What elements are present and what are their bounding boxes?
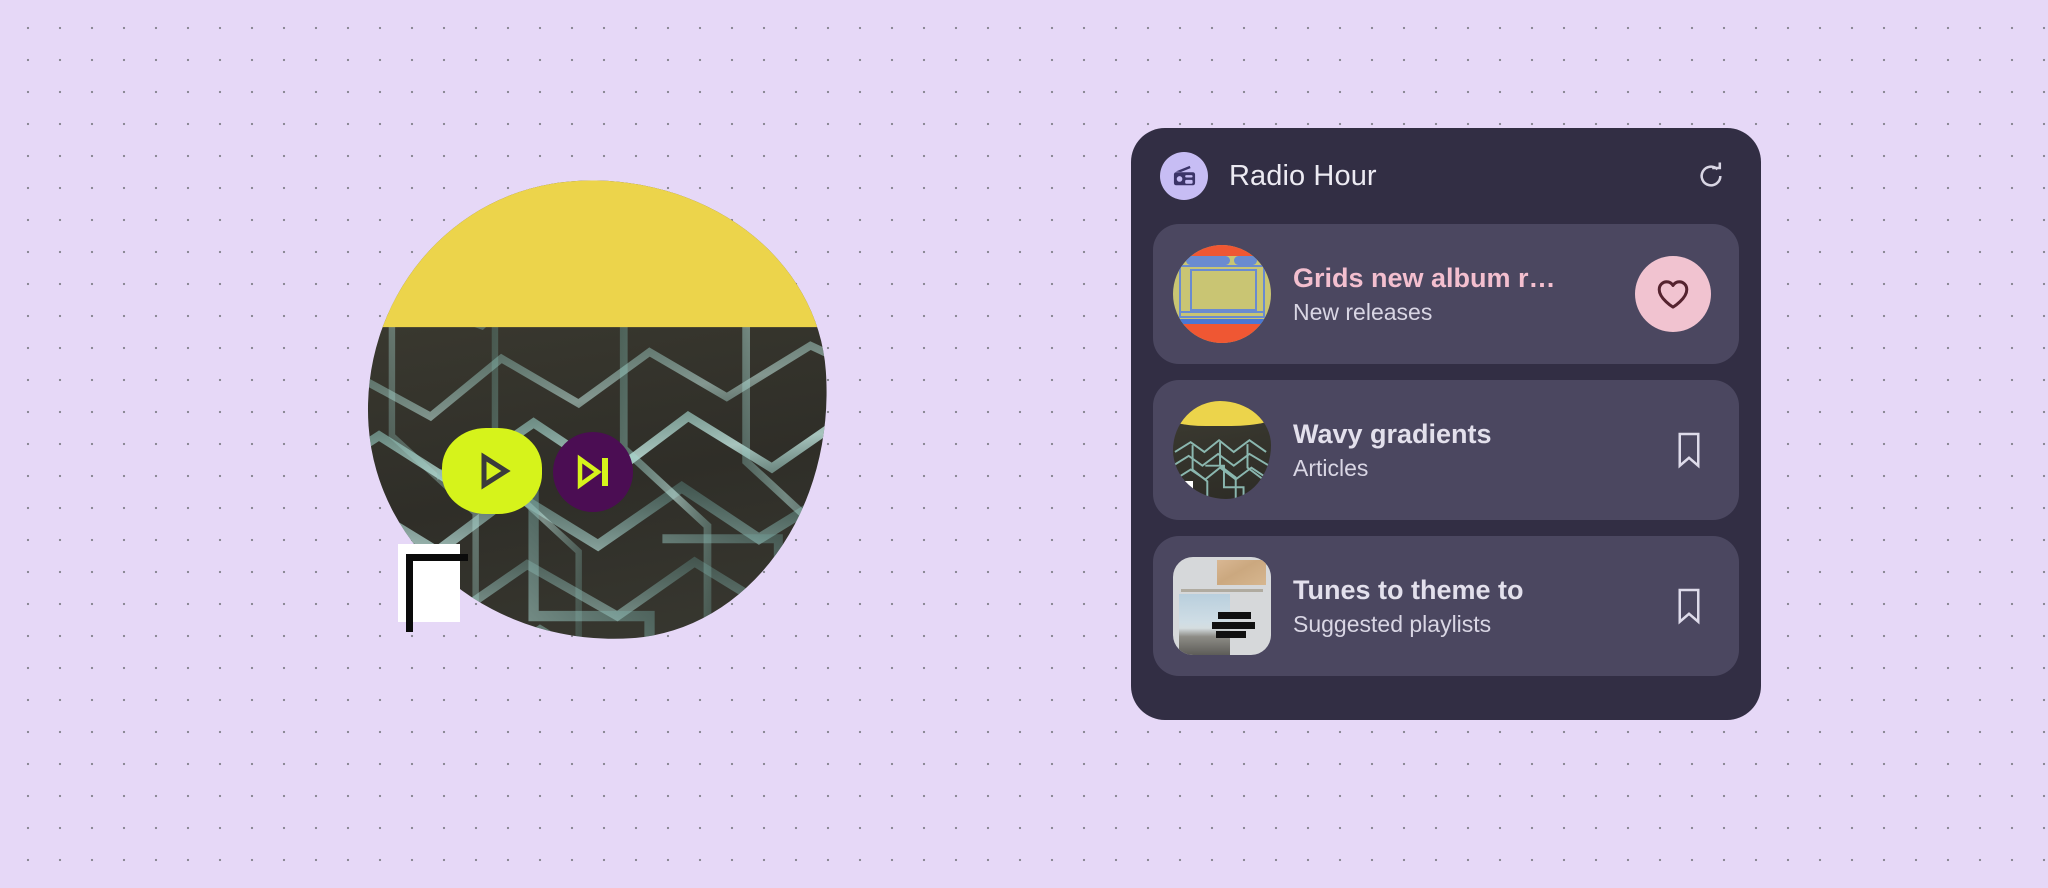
list-item-subtitle: Suggested playlists: [1293, 612, 1667, 636]
list-item[interactable]: Wavy gradients Articles: [1153, 380, 1739, 520]
list-item-title: Wavy gradients: [1293, 420, 1667, 448]
like-button[interactable]: [1635, 256, 1711, 332]
wavy-gradient-blob-thumbnail: [1173, 401, 1271, 499]
page-title: Radio Hour: [1229, 160, 1377, 193]
refresh-button[interactable]: [1691, 156, 1731, 196]
content-list: Grids new album r… New releases: [1131, 224, 1761, 676]
artwork-yellow-band: [353, 165, 844, 328]
play-button[interactable]: [442, 428, 542, 514]
heart-icon: [1654, 275, 1692, 313]
artwork-stage: [368, 180, 848, 660]
list-item-title: Grids new album r…: [1293, 264, 1635, 292]
radio-icon-badge: [1160, 152, 1208, 200]
list-item-subtitle: Articles: [1293, 456, 1667, 480]
list-item-subtitle: New releases: [1293, 300, 1635, 324]
list-item[interactable]: Grids new album r… New releases: [1153, 224, 1739, 364]
artwork-white-square-accent: [398, 544, 460, 622]
list-item-text: Tunes to theme to Suggested playlists: [1293, 576, 1667, 635]
panel-header: Radio Hour: [1131, 128, 1761, 224]
list-item-text: Grids new album r… New releases: [1293, 264, 1635, 323]
list-item[interactable]: Tunes to theme to Suggested playlists: [1153, 536, 1739, 676]
radio-hour-panel: Radio Hour Grids new album r…: [1131, 128, 1761, 720]
list-item-title: Tunes to theme to: [1293, 576, 1667, 604]
play-icon: [468, 447, 516, 495]
bookmark-button[interactable]: [1667, 426, 1711, 474]
beach-magazine-thumbnail: [1173, 557, 1271, 655]
list-item-text: Wavy gradients Articles: [1293, 420, 1667, 479]
grid-poster-thumbnail: [1173, 245, 1271, 343]
bookmark-icon: [1674, 431, 1704, 469]
bookmark-button[interactable]: [1667, 582, 1711, 630]
skip-next-button[interactable]: [553, 432, 633, 512]
radio-icon: [1171, 163, 1198, 190]
bookmark-icon: [1674, 587, 1704, 625]
refresh-icon: [1695, 160, 1727, 192]
skip-next-icon: [572, 451, 614, 493]
